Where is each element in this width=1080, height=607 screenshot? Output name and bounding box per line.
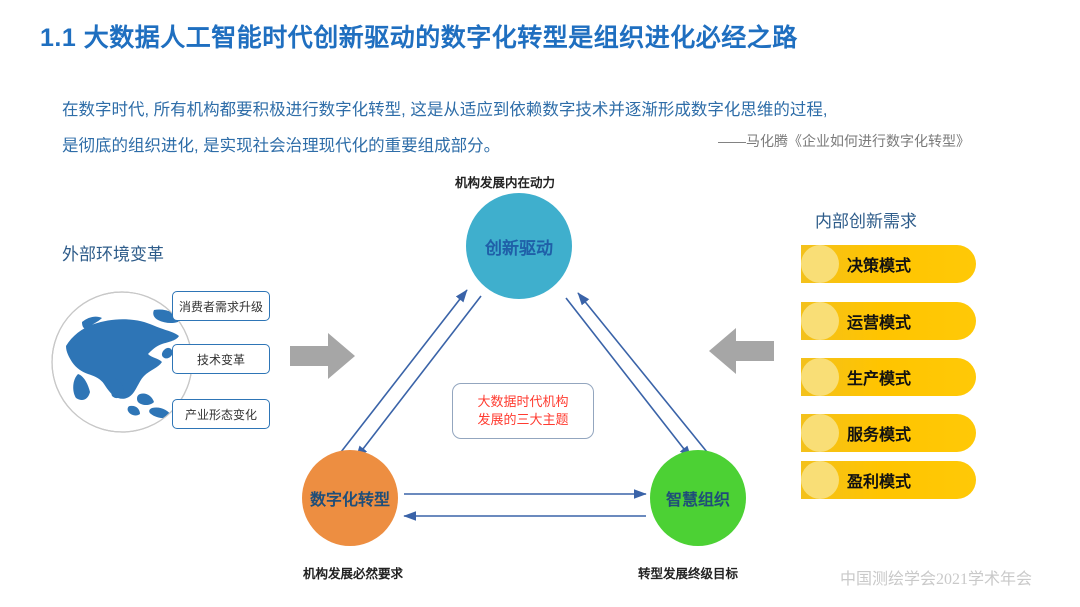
caption-digital-transformation: 机构发展必然要求 [303, 563, 403, 582]
pill-production-mode[interactable]: 生产模式 [801, 358, 976, 396]
quote-attribution: ——马化腾《企业如何进行数字化转型》 [718, 131, 970, 151]
center-theme-line-2: 发展的三大主题 [477, 411, 568, 429]
env-box-industry-form[interactable]: 产业形态变化 [172, 399, 270, 429]
pill-knob-icon [801, 302, 839, 340]
intro-paragraph-line-1: 在数字时代, 所有机构都要积极进行数字化转型, 这是从适应到依赖数字技术并逐渐形… [62, 92, 1022, 128]
pill-service-mode[interactable]: 服务模式 [801, 414, 976, 452]
arrow-left-icon [706, 325, 776, 377]
pill-label: 决策模式 [847, 252, 911, 276]
external-environment-heading: 外部环境变革 [62, 240, 164, 265]
slide-canvas: 1.1 大数据人工智能时代创新驱动的数字化转型是组织进化必经之路 在数字时代, … [0, 0, 1080, 607]
arrow-right-icon [288, 330, 358, 382]
pill-label: 盈利模式 [847, 468, 911, 492]
footer-watermark: 中国测绘学会2021学术年会 [840, 565, 1032, 589]
node-innovation-driver[interactable]: 创新驱动 [466, 193, 572, 299]
pill-profit-mode[interactable]: 盈利模式 [801, 461, 976, 499]
env-box-technology-change[interactable]: 技术变革 [172, 344, 270, 374]
pill-decision-mode[interactable]: 决策模式 [801, 245, 976, 283]
pill-operation-mode[interactable]: 运营模式 [801, 302, 976, 340]
page-title: 1.1 大数据人工智能时代创新驱动的数字化转型是组织进化必经之路 [40, 18, 798, 54]
pill-knob-icon [801, 414, 839, 452]
pill-knob-icon [801, 461, 839, 499]
pill-knob-icon [801, 358, 839, 396]
pill-label: 生产模式 [847, 365, 911, 389]
internal-innovation-heading: 内部创新需求 [815, 207, 917, 232]
pill-knob-icon [801, 245, 839, 283]
node-smart-organization[interactable]: 智慧组织 [650, 450, 746, 546]
caption-innovation: 机构发展内在动力 [455, 172, 555, 191]
intro-paragraph: 在数字时代, 所有机构都要积极进行数字化转型, 这是从适应到依赖数字技术并逐渐形… [62, 92, 1022, 164]
center-theme-line-1: 大数据时代机构 [477, 393, 568, 411]
env-box-consumer-demand[interactable]: 消费者需求升级 [172, 291, 270, 321]
pill-label: 服务模式 [847, 421, 911, 445]
pill-label: 运营模式 [847, 309, 911, 333]
center-theme-box: 大数据时代机构 发展的三大主题 [452, 383, 594, 439]
node-digital-transformation[interactable]: 数字化转型 [302, 450, 398, 546]
caption-smart-organization: 转型发展终级目标 [638, 563, 738, 582]
